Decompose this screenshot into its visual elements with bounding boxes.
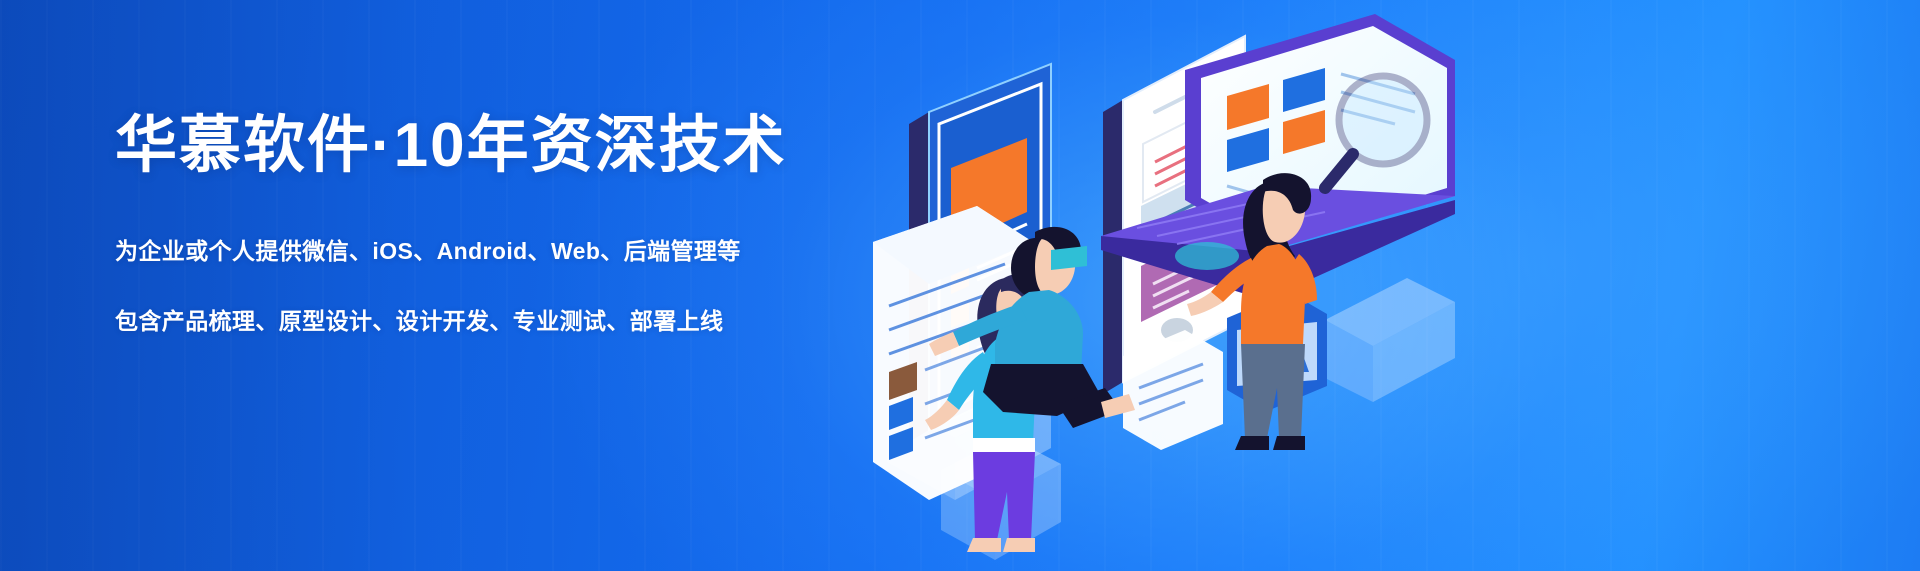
banner-copy: 华慕软件·10年资深技术 为企业或个人提供微信、iOS、Android、Web、…: [115, 108, 875, 336]
isometric-illustration: [855, 0, 1455, 571]
banner-subtitle-line-2: 包含产品梳理、原型设计、设计开发、专业测试、部署上线: [115, 306, 875, 336]
banner-headline: 华慕软件·10年资深技术: [115, 108, 875, 184]
pedestal: [1325, 278, 1455, 402]
hero-banner: 华慕软件·10年资深技术 为企业或个人提供微信、iOS、Android、Web、…: [0, 0, 1920, 571]
banner-subtitle-line-1: 为企业或个人提供微信、iOS、Android、Web、后端管理等: [115, 236, 875, 266]
